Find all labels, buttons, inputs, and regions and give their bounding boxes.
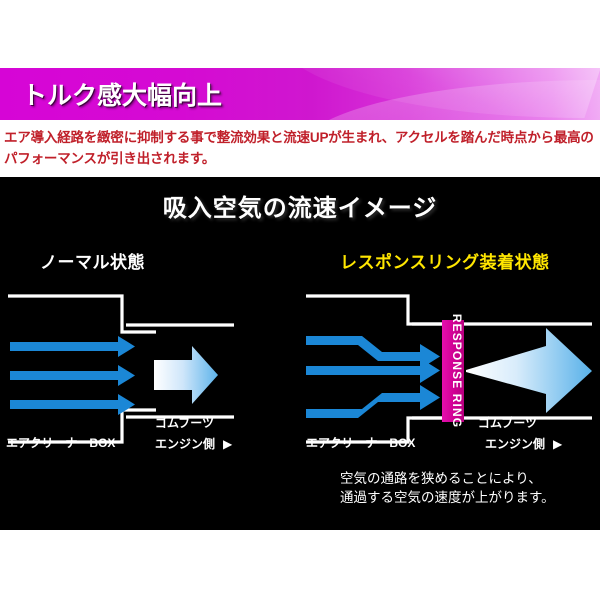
lead-paragraph: エア導入経路を緻密に抑制する事で整流効果と流速UPが生まれ、アクセルを踏んだ時点…	[0, 120, 600, 177]
flow-arrows-left	[10, 336, 135, 415]
left-engine-arrow-icon: ▶	[215, 437, 232, 451]
bottom-whitespace	[0, 530, 600, 602]
response-ring-bar: RESPONSE RING	[442, 314, 464, 428]
right-air-box-label: エアクリーナーBOX	[306, 434, 415, 451]
banner-highlight-swoosh	[244, 68, 600, 118]
top-whitespace	[0, 0, 600, 68]
right-engine-label-text: エンジン側	[485, 437, 545, 451]
right-engine-label: エンジン側▶	[485, 435, 562, 452]
left-air-box-label: エアクリーナーBOX	[6, 434, 115, 451]
left-boot-label: ゴムブーツ	[155, 414, 214, 431]
panel-note: 空気の通路を狭めることにより、 通過する空気の速度が上がります。	[340, 469, 555, 508]
right-boot-label: ゴムブーツ	[478, 414, 537, 431]
banner-highlight-swoosh-lower	[300, 80, 600, 120]
velocity-arrow-right	[466, 328, 592, 413]
velocity-arrow-left	[154, 346, 218, 404]
response-ring-label: RESPONSE RING	[450, 314, 464, 428]
right-engine-arrow-icon: ▶	[545, 437, 562, 451]
left-engine-label-text: エンジン側	[155, 437, 215, 451]
section-banner: トルク感大幅向上	[0, 68, 600, 120]
flow-arrows-right	[306, 336, 440, 418]
diagram-panel: 吸入空気の流速イメージ ノーマル状態 レスポンスリング装着状態	[0, 177, 600, 530]
banner-title: トルク感大幅向上	[22, 76, 222, 112]
right-diagram-heading: レスポンスリング装着状態	[340, 248, 550, 273]
left-diagram-heading: ノーマル状態	[40, 248, 145, 273]
left-engine-label: エンジン側▶	[155, 435, 232, 452]
panel-title: 吸入空気の流速イメージ	[0, 188, 600, 223]
right-diagram-svg: RESPONSE RING	[300, 282, 600, 457]
left-diagram-svg	[0, 282, 300, 457]
